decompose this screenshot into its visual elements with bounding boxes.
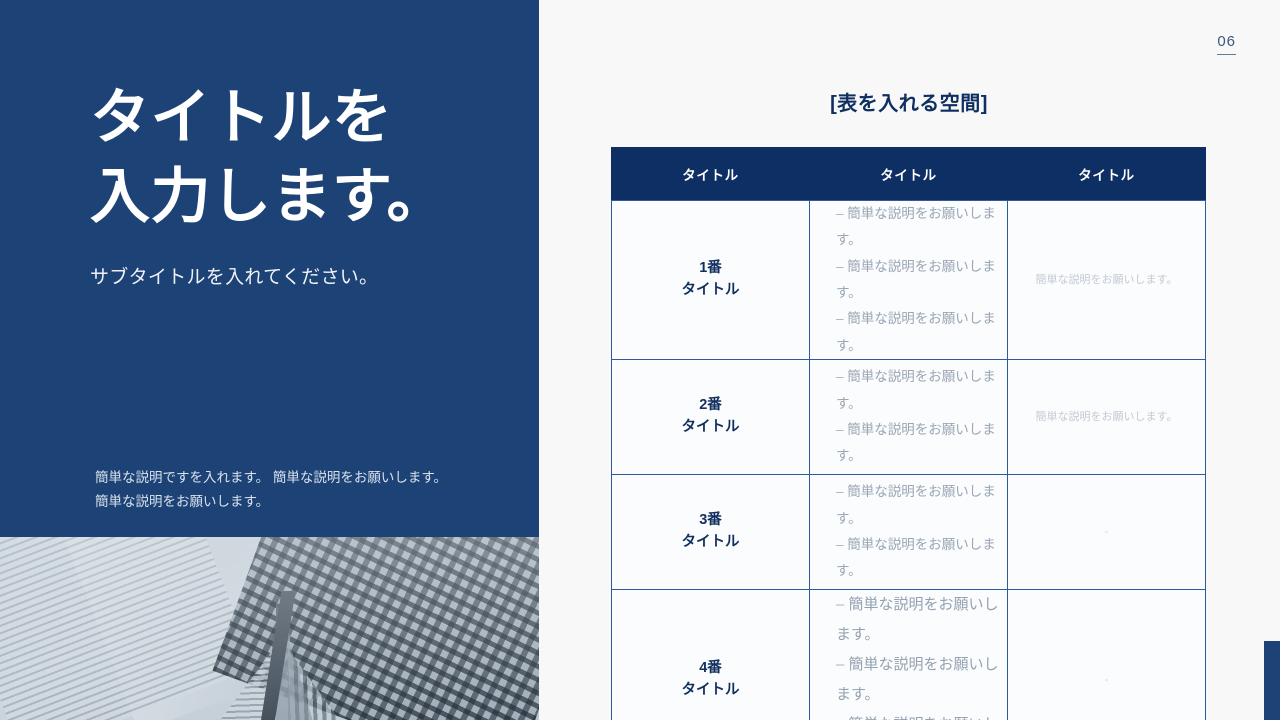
list-item: 簡単な説明をお願いします。 <box>836 306 1007 359</box>
row-note: - <box>1008 474 1206 589</box>
row-label: 3番 タイトル <box>612 474 810 589</box>
row-label: 2番 タイトル <box>612 359 810 474</box>
row-details: 簡単な説明をお願いします。 簡単な説明をお願いします。 <box>810 359 1008 474</box>
list-item: 簡単な説明をお願いします。 <box>836 590 1007 650</box>
table-row: 2番 タイトル 簡単な説明をお願いします。 簡単な説明をお願いします。 簡単な説… <box>612 359 1206 474</box>
list-item: 簡単な説明をお願いします。 <box>836 201 1007 254</box>
list-item: 簡単な説明をお願いします。 <box>836 479 1007 532</box>
row-note: 簡単な説明をお願いします。 <box>1008 201 1206 360</box>
detail-list: 簡単な説明をお願いします。 簡単な説明をお願いします。 簡単な説明をお願いします… <box>836 201 1007 359</box>
row-note: 簡単な説明をお願いします。 <box>1008 359 1206 474</box>
slide-canvas: タイトルを 入力します。 サブタイトルを入れてください。 簡単な説明ですを入れま… <box>0 0 1280 720</box>
list-item: 簡単な説明をお願いします。 <box>836 417 1007 470</box>
detail-list: 簡単な説明をお願いします。 簡単な説明をお願いします。 <box>836 364 1007 469</box>
title-block: タイトルを 入力します。 サブタイトルを入れてください。 <box>90 78 520 289</box>
row-label: 4番 タイトル <box>612 589 810 720</box>
list-item: 簡単な説明をお願いします。 <box>836 254 1007 307</box>
row-details: 簡単な説明をお願いします。 簡単な説明をお願いします。 <box>810 474 1008 589</box>
row-note: - <box>1008 589 1206 720</box>
section-heading: [表を入れる空間] <box>612 87 1206 116</box>
list-item: 簡単な説明をお願いします。 <box>836 710 1007 720</box>
table-header-cell-detail: タイトル <box>810 148 1008 201</box>
page-title: タイトルを 入力します。 <box>90 78 520 236</box>
corner-accent-bar <box>1264 641 1280 720</box>
skyscraper-photo <box>0 537 539 720</box>
list-item: 簡単な説明をお願いします。 <box>836 364 1007 417</box>
row-details: 簡単な説明をお願いします。 簡単な説明をお願いします。 簡単な説明をお願いします… <box>810 201 1008 360</box>
row-label: 1番 タイトル <box>612 201 810 360</box>
content-table: タイトル タイトル タイトル 1番 タイトル 簡単な説明をお願いします。 簡単な… <box>611 147 1206 720</box>
photo-blue-tint-overlay <box>0 537 539 720</box>
detail-list: 簡単な説明をお願いします。 簡単な説明をお願いします。 <box>836 479 1007 584</box>
left-body-text: 簡単な説明ですを入れます。 簡単な説明をお願いします。 簡単な説明をお願いします… <box>95 466 455 513</box>
table-header: タイトル タイトル タイトル <box>612 148 1206 201</box>
detail-list: 簡単な説明をお願いします。 簡単な説明をお願いします。 簡単な説明をお願いします… <box>836 590 1007 720</box>
table-header-cell-label: タイトル <box>612 148 810 201</box>
table-body: 1番 タイトル 簡単な説明をお願いします。 簡単な説明をお願いします。 簡単な説… <box>612 201 1206 720</box>
page-number: 06 <box>1217 33 1236 55</box>
table-row: 1番 タイトル 簡単な説明をお願いします。 簡単な説明をお願いします。 簡単な説… <box>612 201 1206 360</box>
page-subtitle: サブタイトルを入れてください。 <box>90 262 520 289</box>
row-details: 簡単な説明をお願いします。 簡単な説明をお願いします。 簡単な説明をお願いします… <box>810 589 1008 720</box>
left-title-panel: タイトルを 入力します。 サブタイトルを入れてください。 簡単な説明ですを入れま… <box>0 0 539 720</box>
table-header-row: タイトル タイトル タイトル <box>612 148 1206 201</box>
list-item: 簡単な説明をお願いします。 <box>836 650 1007 710</box>
table-row: 4番 タイトル 簡単な説明をお願いします。 簡単な説明をお願いします。 簡単な説… <box>612 589 1206 720</box>
list-item: 簡単な説明をお願いします。 <box>836 532 1007 585</box>
table-header-cell-note: タイトル <box>1008 148 1206 201</box>
table-row: 3番 タイトル 簡単な説明をお願いします。 簡単な説明をお願いします。 - <box>612 474 1206 589</box>
